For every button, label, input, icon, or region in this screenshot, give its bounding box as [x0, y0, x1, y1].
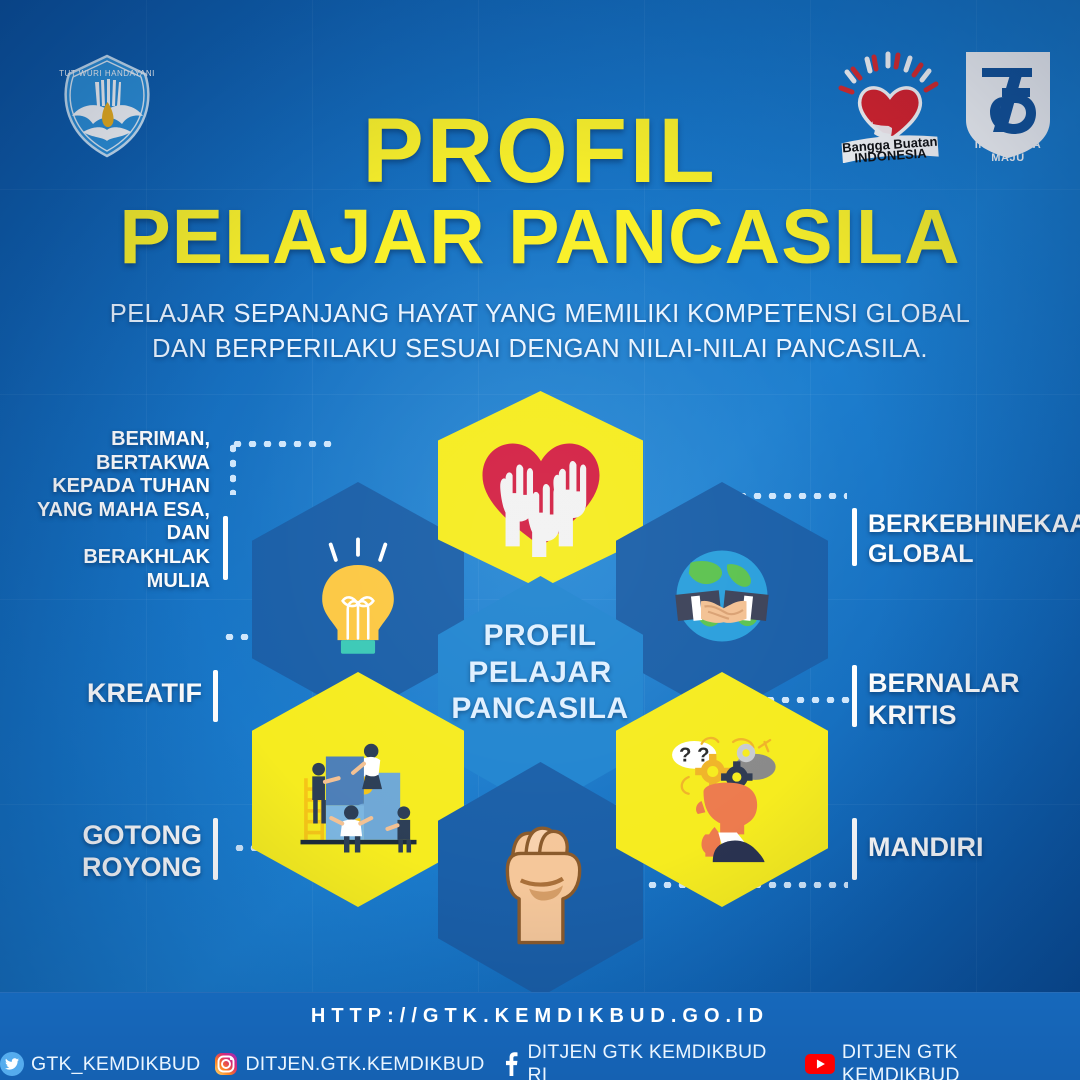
title-line-1: PROFIL — [0, 108, 1080, 195]
puzzle-teamwork-icon — [286, 722, 431, 858]
social-facebook[interactable]: DITJEN GTK KEMDIKBUD RI — [499, 1041, 791, 1080]
connector-dots-kreatif — [222, 634, 340, 640]
hex-beriman-bertakwa[interactable] — [438, 391, 643, 589]
label-line: MANDIRI — [868, 832, 1078, 864]
thinking-head-gears-icon: ? ? — [648, 716, 796, 864]
label-line: KREATIF — [10, 678, 202, 710]
label-bar-kreatif — [213, 670, 218, 722]
connector-dots-mandiri — [630, 882, 848, 888]
connector-dots-beriman-top — [230, 441, 338, 447]
page-title: PROFIL PELAJAR PANCASILA — [0, 108, 1080, 275]
svg-text:? ?: ? ? — [679, 744, 710, 766]
social-instagram[interactable]: DITJEN.GTK.KEMDIKBUD — [214, 1052, 484, 1076]
social-handle: GTK_KEMDIKBUD — [31, 1053, 200, 1076]
label-mandiri: MANDIRI — [868, 832, 1078, 864]
lightbulb-icon — [298, 536, 418, 664]
social-handle: DITJEN GTK KEMDIKBUD — [842, 1041, 1080, 1080]
social-handle: DITJEN.GTK.KEMDIKBUD — [245, 1053, 484, 1076]
label-kreatif: KREATIF — [10, 678, 202, 710]
title-line-2: PELAJAR PANCASILA — [0, 201, 1080, 274]
subtitle-line-2: DAN BERPERILAKU SESUAI DENGAN NILAI-NILA… — [0, 332, 1080, 367]
twitter-icon — [0, 1052, 24, 1076]
social-handle: DITJEN GTK KEMDIKBUD RI — [527, 1041, 791, 1080]
social-twitter[interactable]: GTK_KEMDIKBUD — [0, 1052, 200, 1076]
center-line-2: PELAJAR — [430, 655, 650, 692]
label-bar-mandiri — [852, 818, 857, 880]
infographic-canvas: TUT WURI HANDAYANI — [0, 0, 1080, 1080]
label-line: BERAKHLAK — [10, 546, 210, 570]
label-line: GOTONG — [10, 820, 202, 852]
connector-dots-gotong-royong — [232, 845, 342, 851]
label-gotong-royong: GOTONG ROYONG — [10, 820, 202, 884]
label-bar-gotong-royong — [213, 818, 218, 880]
website-url[interactable]: HTTP://GTK.KEMDIKBUD.GO.ID — [0, 1005, 1080, 1028]
social-links: GTK_KEMDIKBUD DITJEN.GTK.KEMDIKBUD — [0, 1041, 1080, 1080]
label-line: ROYONG — [10, 852, 202, 884]
youtube-icon — [805, 1053, 835, 1075]
label-bar-berkebhinekaan — [852, 508, 857, 566]
facebook-icon — [499, 1052, 521, 1076]
label-line: GLOBAL — [868, 540, 1078, 570]
center-line-1: PROFIL — [430, 618, 650, 655]
label-bar-bernalar-kritis — [852, 665, 857, 727]
label-line: YANG MAHA ESA, — [10, 499, 210, 523]
label-bernalar-kritis: BERNALAR KRITIS — [868, 668, 1078, 732]
label-beriman-bertakwa: BERIMAN, BERTAKWA KEPADA TUHAN YANG MAHA… — [10, 428, 210, 593]
subtitle-line-1: PELAJAR SEPANJANG HAYAT YANG MEMILIKI KO… — [0, 297, 1080, 332]
label-line: KEPADA TUHAN — [10, 475, 210, 499]
label-berkebhinekaan-global: BERKEBHINEKAAN GLOBAL — [868, 510, 1078, 569]
label-line: DAN — [10, 522, 210, 546]
footer-bar: HTTP://GTK.KEMDIKBUD.GO.ID GTK_KEMDIKBUD — [0, 992, 1080, 1080]
instagram-icon — [214, 1052, 238, 1076]
hex-mandiri[interactable] — [438, 762, 643, 997]
label-line: MULIA — [10, 570, 210, 594]
globe-handshake-icon — [652, 538, 792, 661]
label-bar-beriman — [223, 516, 228, 580]
connector-dots-berkebhinekaan — [735, 493, 847, 499]
heart-with-raised-hands-icon — [470, 424, 612, 557]
center-hub-label: PROFIL PELAJAR PANCASILA — [430, 618, 650, 728]
center-line-3: PANCASILA — [430, 691, 650, 728]
connector-dots-bernalar-kritis — [748, 697, 850, 703]
label-line: BERNALAR — [868, 668, 1078, 700]
label-line: KRITIS — [868, 700, 1078, 732]
svg-text:TUT WURI HANDAYANI: TUT WURI HANDAYANI — [59, 69, 155, 78]
label-line: BERKEBHINEKAAN — [868, 510, 1078, 540]
label-line: BERIMAN, — [10, 428, 210, 452]
connector-dots-beriman-vertical — [230, 441, 236, 495]
raised-fist-icon — [482, 808, 600, 951]
page-subtitle: PELAJAR SEPANJANG HAYAT YANG MEMILIKI KO… — [0, 297, 1080, 366]
social-youtube[interactable]: DITJEN GTK KEMDIKBUD — [805, 1041, 1080, 1080]
label-line: BERTAKWA — [10, 452, 210, 476]
